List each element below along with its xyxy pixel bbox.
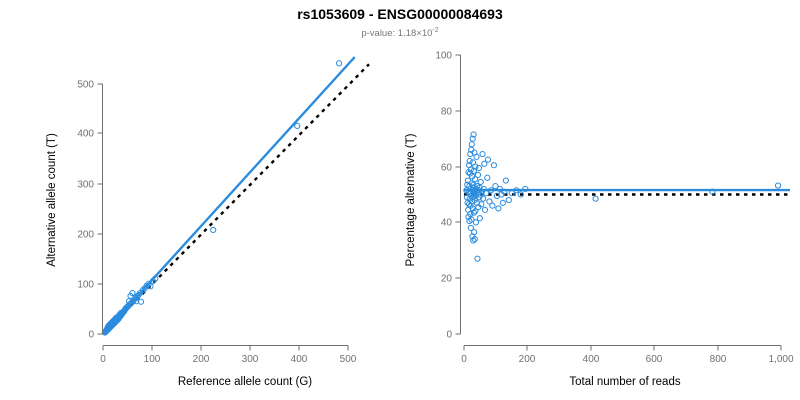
data-point (491, 163, 496, 168)
data-point (485, 175, 490, 180)
y-tick-label: 80 (441, 107, 453, 118)
data-point (475, 172, 480, 177)
data-point (775, 183, 780, 188)
data-point (480, 151, 485, 156)
data-point (475, 256, 480, 261)
data-point (477, 216, 482, 221)
data-points-group (464, 132, 781, 261)
x-tick-label: 400 (583, 354, 600, 365)
data-point (482, 207, 487, 212)
y-tick-label: 0 (446, 330, 452, 341)
y-tick-label: 20 (441, 274, 453, 285)
data-point (593, 196, 598, 201)
y-tick-label: 40 (441, 218, 453, 229)
y-tick-label: 60 (441, 163, 453, 174)
data-point (500, 200, 505, 205)
data-point (490, 203, 495, 208)
data-point (506, 197, 511, 202)
x-tick-label: 800 (710, 354, 727, 365)
data-point (473, 220, 478, 225)
percentage-scatter-panel: 02040608010002004006008001,000Total numb… (0, 0, 800, 400)
x-tick-label: 0 (461, 354, 467, 365)
y-tick-label: 100 (435, 51, 452, 62)
plot-area (464, 132, 790, 261)
data-point (503, 178, 508, 183)
y-axis-title: Percentage alternative (T) (405, 133, 417, 266)
x-tick-label: 1,000 (768, 354, 793, 365)
x-tick-label: 200 (519, 354, 536, 365)
figure-root: rs1053609 - ENSG00000084693 p-value: 1.1… (0, 0, 800, 400)
data-point (474, 154, 479, 159)
data-point (478, 179, 483, 184)
data-point (485, 157, 490, 162)
x-tick-label: 600 (646, 354, 663, 365)
data-point (469, 142, 474, 147)
x-axis-title: Total number of reads (569, 376, 680, 388)
data-point (496, 206, 501, 211)
